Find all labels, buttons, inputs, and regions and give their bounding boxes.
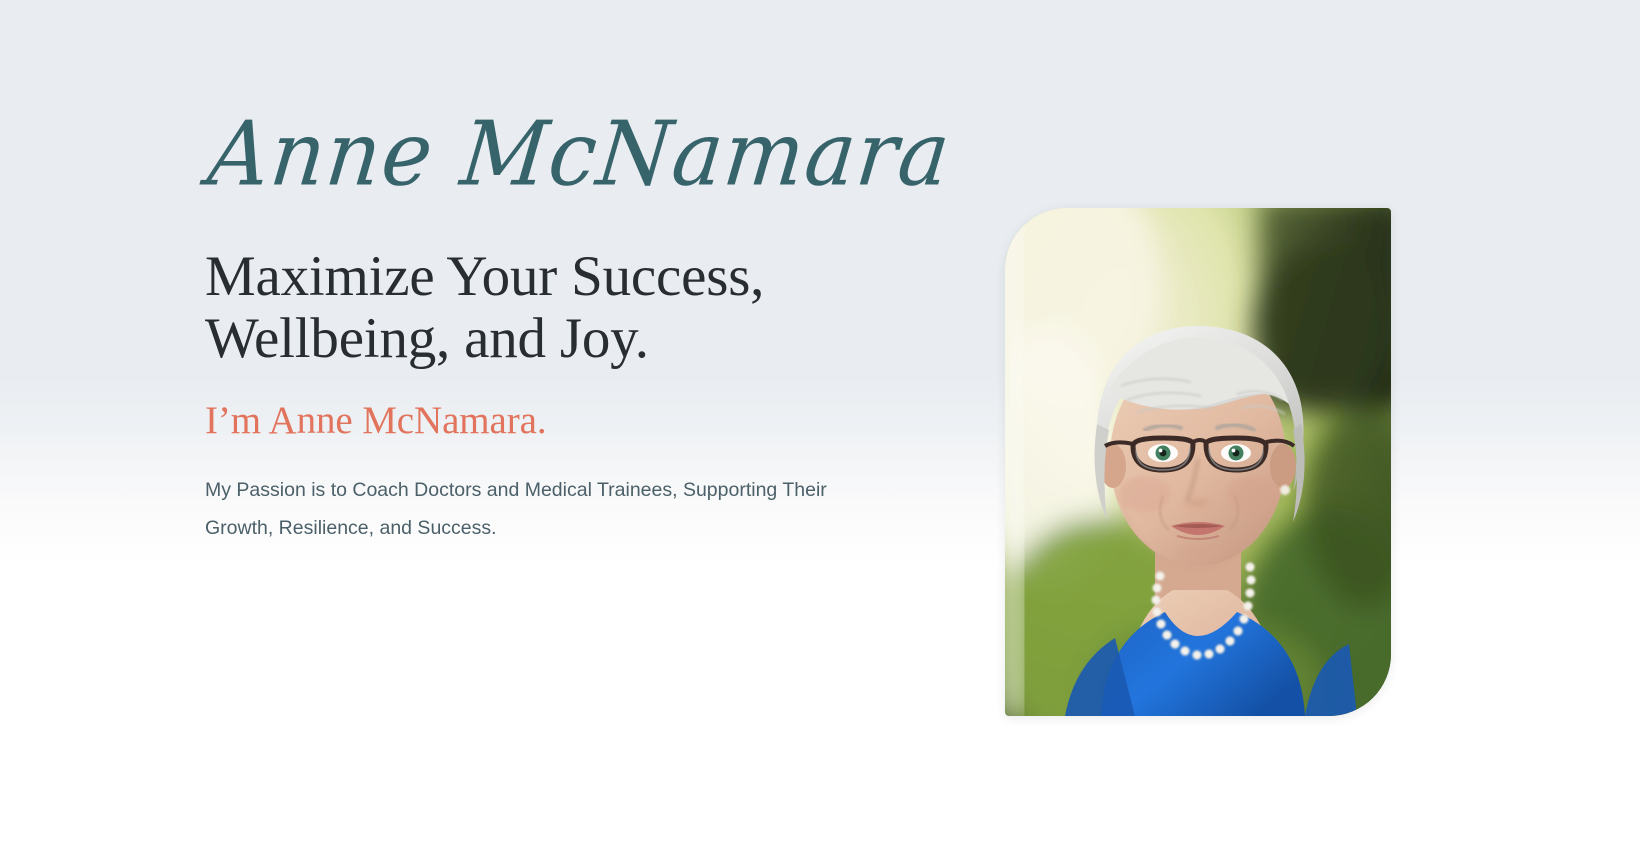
headline-line-2: Wellbeing, and Joy.	[205, 308, 925, 370]
hero-section: Anne McNamara Maximize Your Success, Wel…	[0, 0, 1640, 856]
hero-description: My Passion is to Coach Doctors and Medic…	[205, 471, 895, 547]
page-title: Maximize Your Success, Wellbeing, and Jo…	[205, 246, 925, 369]
hero-text-column: Anne McNamara Maximize Your Success, Wel…	[205, 110, 925, 547]
portrait-photo	[1005, 208, 1391, 716]
subheadline: I’m Anne McNamara.	[205, 398, 925, 445]
portrait-illustration	[1005, 208, 1391, 716]
brand-script-logo: Anne McNamara	[204, 107, 930, 200]
headline-line-1: Maximize Your Success,	[205, 246, 925, 308]
